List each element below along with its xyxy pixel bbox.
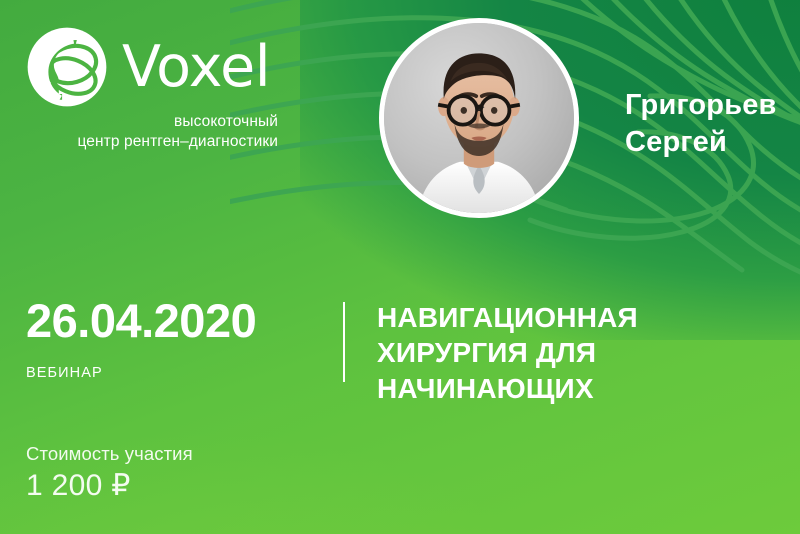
brand-logo: Voxel высокоточный центр рентген–диагнос… (26, 26, 326, 152)
speaker-last-name: Григорьев (625, 87, 777, 124)
brand-tagline-line2: центр рентген–диагностики (26, 132, 278, 152)
logo-row: Voxel (26, 26, 326, 108)
event-date: 26.04.2020 (26, 297, 326, 344)
price-value: 1 200 ₽ (26, 469, 193, 502)
brand-tagline: высокоточный центр рентген–диагностики (26, 112, 278, 152)
event-title: НАВИГАЦИОННАЯ ХИРУРГИЯ ДЛЯ НАЧИНАЮЩИХ (377, 300, 707, 406)
event-date-block: 26.04.2020 ВЕБИНАР (26, 297, 326, 381)
speaker-name: Григорьев Сергей (625, 87, 777, 161)
vertical-divider (343, 302, 345, 382)
brand-wordmark: Voxel (122, 39, 270, 96)
event-title-line3: НАЧИНАЮЩИХ (377, 371, 707, 406)
promo-banner: Voxel высокоточный центр рентген–диагнос… (0, 0, 800, 534)
head-profile-scan-icon (26, 26, 108, 108)
speaker-photo (379, 18, 579, 218)
event-title-line2: ХИРУРГИЯ ДЛЯ (377, 335, 707, 370)
event-kind-label: ВЕБИНАР (26, 365, 326, 381)
speaker-first-name: Сергей (625, 124, 777, 161)
brand-tagline-line1: высокоточный (26, 112, 278, 132)
price-label: Стоимость участия (26, 443, 193, 465)
price-block: Стоимость участия 1 200 ₽ (26, 443, 193, 502)
event-title-line1: НАВИГАЦИОННАЯ (377, 300, 707, 335)
